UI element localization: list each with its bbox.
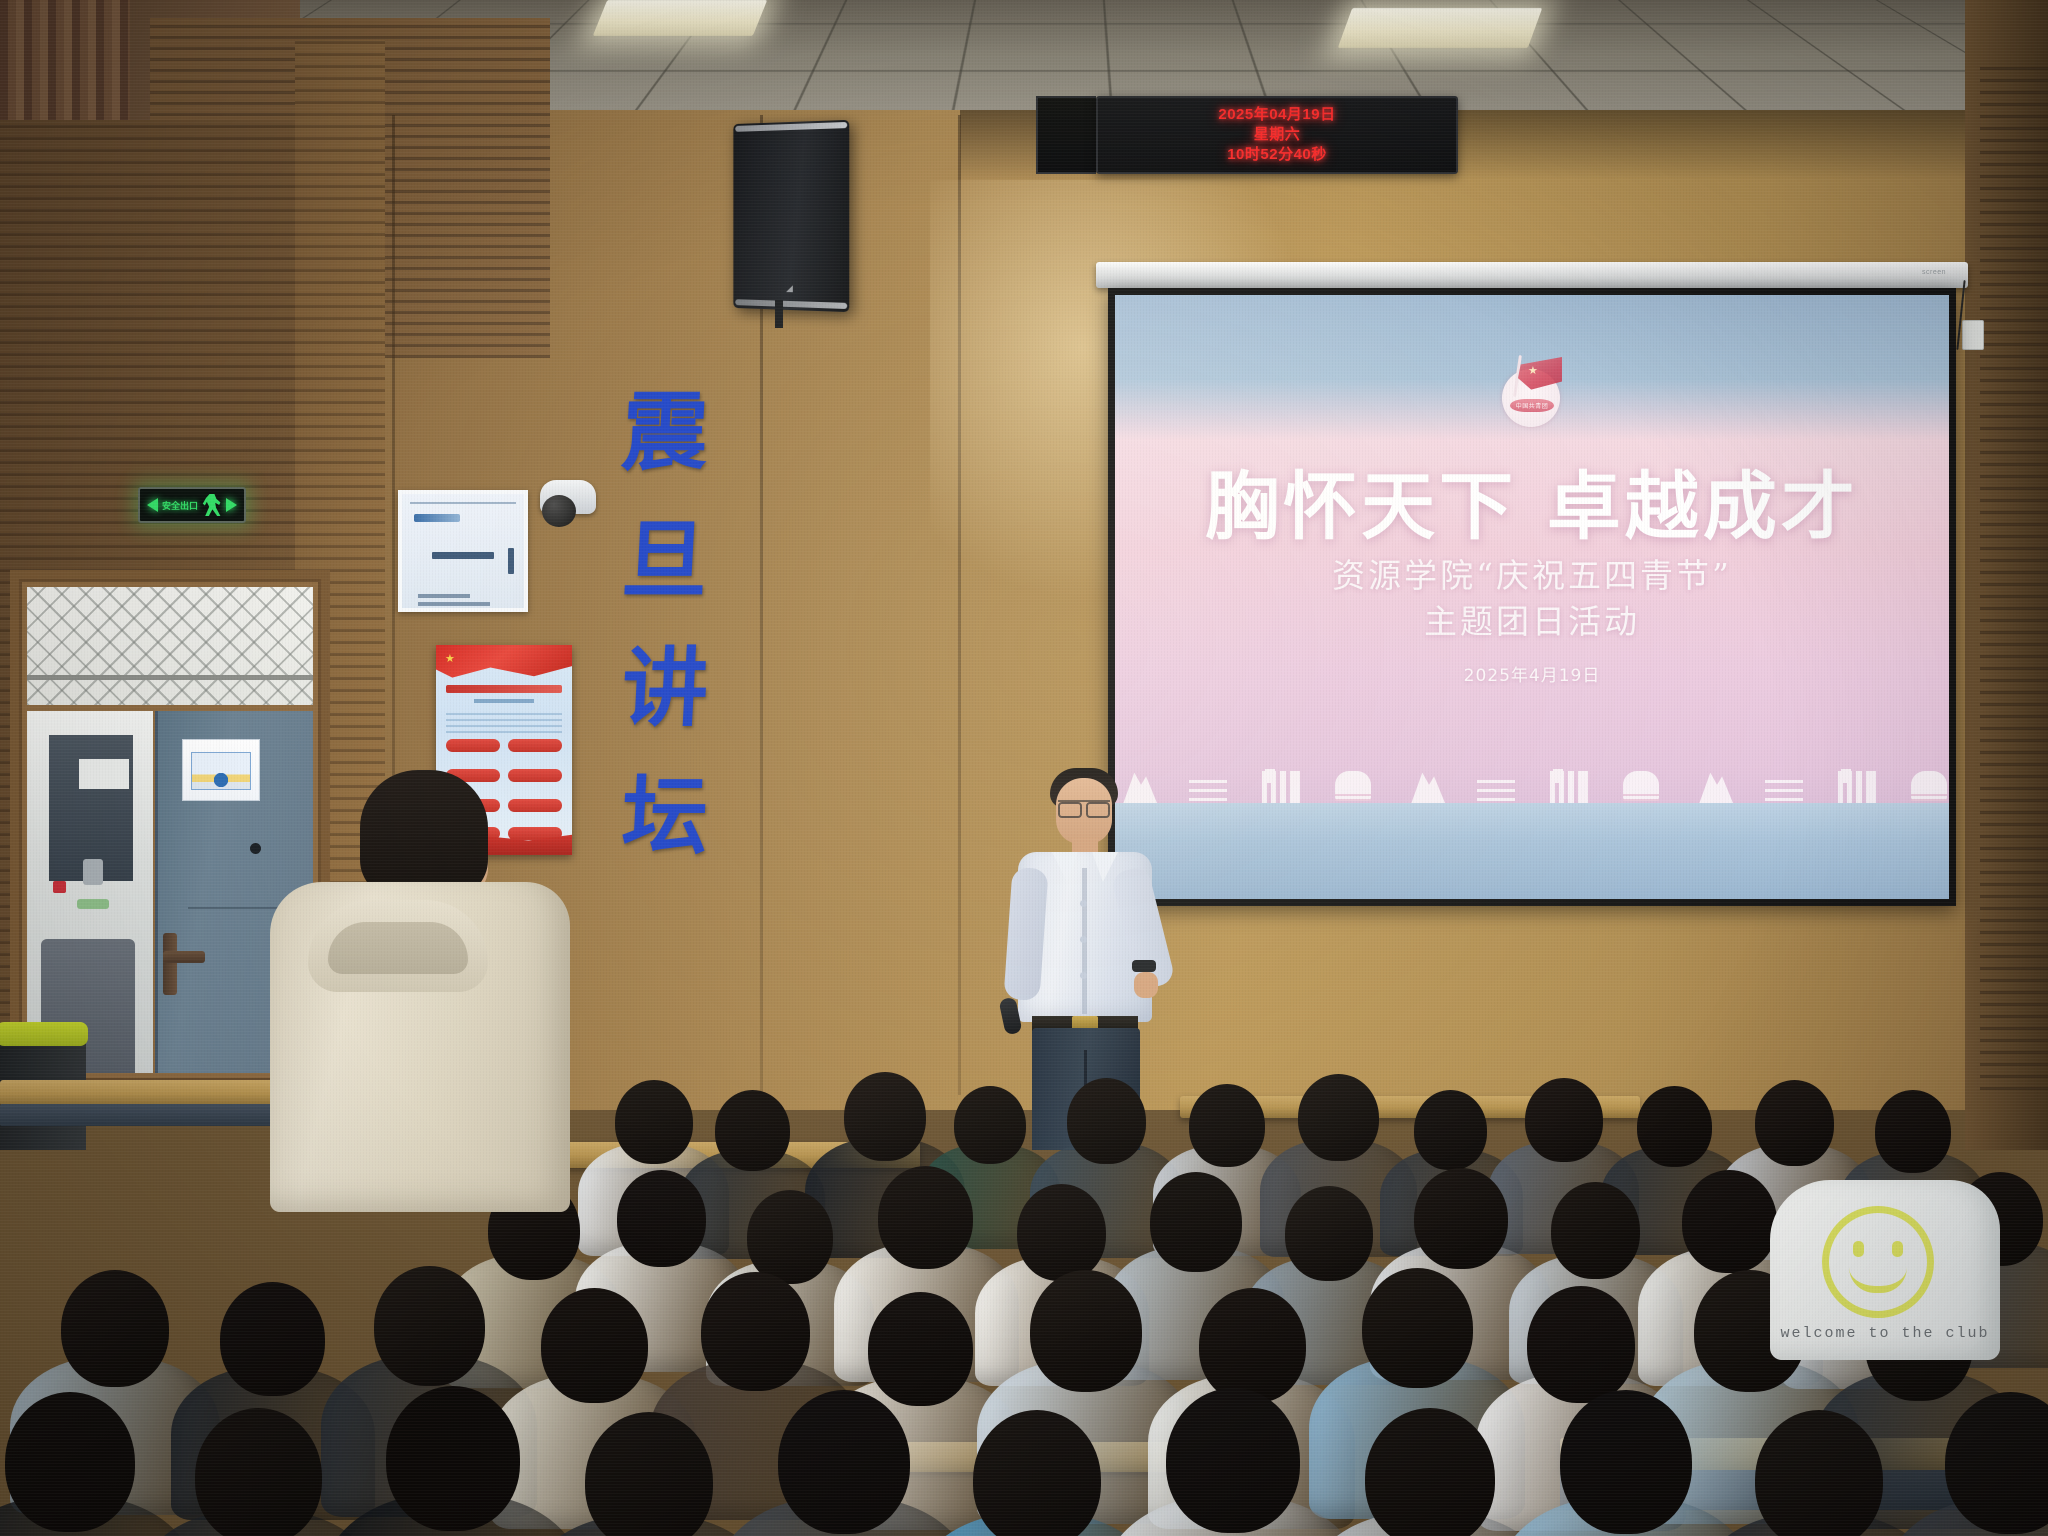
shirt-button	[1080, 900, 1087, 907]
led-clock-display: 2025年04月19日 星期六 10时52分40秒	[1096, 96, 1458, 174]
audience-member-head	[386, 1386, 520, 1531]
speaker-brand-mark: ◢	[786, 283, 794, 294]
poster-paragraph	[446, 709, 562, 733]
audience-member	[1920, 1392, 2048, 1536]
led-time: 10时52分40秒	[1227, 145, 1327, 165]
hoodie-text: welcome to the club	[1770, 1325, 2000, 1342]
audience-member	[560, 1412, 738, 1536]
lecture-hall-photo: 安全出口 ★ ◢ 2	[0, 0, 2048, 1536]
running-person-icon	[202, 494, 222, 516]
corridor-view	[27, 711, 153, 1073]
audience-member-head	[878, 1166, 973, 1269]
student-hair	[360, 770, 488, 898]
speaker-bottom-trim	[735, 299, 847, 309]
poster-item-pill	[446, 739, 500, 752]
slide-subtitle-2: 主题团日活动	[1115, 595, 1949, 643]
audience-member-head	[1755, 1080, 1834, 1166]
audience-member-head	[1414, 1168, 1508, 1269]
hoodie-back: welcome to the club	[1770, 1180, 2000, 1360]
audience-member-head	[195, 1408, 322, 1536]
wall-seam	[958, 115, 961, 1095]
wall-calligraphy: 震 旦 讲 坛	[600, 390, 730, 860]
audience-member	[752, 1390, 936, 1536]
glasses-icon	[1058, 800, 1110, 812]
notice-logo-icon	[414, 514, 460, 522]
audience-member-head	[1755, 1410, 1883, 1536]
audience-member-head	[1017, 1184, 1106, 1281]
projector-screen-housing[interactable]: screen	[1096, 262, 1968, 288]
cabinet-indicator-icon	[53, 881, 66, 893]
wristwatch-icon	[1132, 960, 1156, 972]
audience-member-head	[61, 1270, 169, 1387]
calligraphy-char-2: 旦	[620, 518, 711, 604]
safety-diagram-icon	[191, 752, 251, 790]
transom-window	[27, 587, 313, 705]
audience-member-head	[1150, 1172, 1242, 1272]
housing-brand-mark: screen	[1922, 269, 1946, 276]
lattice-grille-icon	[27, 587, 313, 705]
slide-title: 胸怀天下 卓越成才	[1115, 447, 1949, 554]
chinese-flag-icon: ★	[436, 645, 572, 679]
wall-speaker: ◢	[733, 120, 849, 312]
ceiling-light-panel	[1338, 8, 1543, 48]
audience-member	[360, 1386, 546, 1536]
youth-league-emblem-icon: ★ 中国共青团	[1496, 355, 1568, 427]
led-clock-side-panel	[1036, 96, 1096, 174]
led-weekday: 星期六	[1254, 125, 1301, 145]
slide-subtitle-1: 资源学院“庆祝五四青节”	[1115, 549, 1949, 597]
audience-member-head	[1560, 1390, 1692, 1534]
audience-member-head	[220, 1282, 325, 1396]
city-icon	[1547, 765, 1589, 803]
audience-member-head	[701, 1272, 810, 1391]
exit-arrow-left-icon	[147, 498, 158, 512]
audience-member-head	[1525, 1078, 1603, 1162]
slide-decoration-band	[1115, 757, 1949, 803]
emblem-banner: 中国共青团	[1510, 399, 1554, 412]
wall-notice-frame	[398, 490, 528, 612]
wave-icon	[1475, 765, 1517, 803]
audience-member-head	[1682, 1170, 1777, 1273]
notice-footer-line	[418, 602, 490, 606]
jacket-hood-lining	[328, 922, 468, 974]
city-icon	[1259, 765, 1301, 803]
audience-member-head	[1637, 1086, 1712, 1167]
wall-socket	[1962, 320, 1984, 350]
audience-member-head	[1365, 1408, 1495, 1536]
notice-side-bar	[508, 548, 514, 574]
audience-member-head	[1189, 1084, 1265, 1167]
mountain-icon	[1691, 765, 1733, 803]
projection-screen: ★ 中国共青团 胸怀天下 卓越成才 资源学院“庆祝五四青节” 主题团日活动 20…	[1108, 288, 1956, 906]
slide-footer-band	[1115, 803, 1949, 899]
presenter-right-hand	[1134, 972, 1158, 998]
notice-title-bar	[432, 552, 494, 559]
audience-member-head	[1414, 1090, 1487, 1170]
door-lever[interactable]	[163, 951, 205, 963]
audience-member	[0, 1392, 160, 1536]
wave-icon	[1763, 765, 1805, 803]
calligraphy-char-3: 讲	[620, 646, 711, 732]
door-handle[interactable]	[163, 933, 177, 995]
mountain-icon	[1403, 765, 1445, 803]
cabinet-green-strip	[77, 899, 109, 909]
audience-member-head	[615, 1080, 693, 1164]
audience-member-head	[1030, 1270, 1142, 1392]
audience-member-head	[973, 1410, 1101, 1536]
audience-member-head	[541, 1288, 648, 1403]
emergency-exit-sign: 安全出口	[138, 487, 246, 523]
audience-member-head	[715, 1090, 790, 1171]
right-wall-slats	[1980, 60, 2048, 1090]
speaker-mount-bracket	[775, 300, 783, 328]
audience-member-head	[954, 1086, 1026, 1164]
ceiling-light-panel	[593, 0, 768, 36]
camera-lens-icon	[542, 495, 576, 527]
presentation-slide: ★ 中国共青团 胸怀天下 卓越成才 资源学院“庆祝五四青节” 主题团日活动 20…	[1115, 295, 1949, 899]
calligraphy-char-4: 坛	[620, 774, 711, 860]
audience-member	[1730, 1410, 1908, 1536]
audience-member-head	[374, 1266, 485, 1386]
calligraphy-char-1: 震	[620, 390, 711, 476]
city-icon	[1835, 765, 1877, 803]
cabinet-button	[83, 859, 103, 885]
audience-member-head	[1362, 1268, 1473, 1388]
led-date: 2025年04月19日	[1218, 105, 1335, 125]
cloud-icon	[1907, 765, 1949, 803]
poster-title-bar	[446, 685, 562, 693]
audience-member-head	[778, 1390, 910, 1534]
audience-member-head	[1285, 1186, 1373, 1281]
slide-date: 2025年4月19日	[1115, 661, 1949, 686]
audience-member-head	[1551, 1182, 1640, 1279]
audience-member-head	[5, 1392, 135, 1532]
audience-member-head	[1166, 1388, 1300, 1533]
shirt-button	[1080, 936, 1087, 943]
notice-footer-line	[418, 594, 470, 598]
audience-member	[948, 1410, 1126, 1536]
audience-member	[1534, 1390, 1718, 1536]
audience-member-head	[747, 1190, 833, 1284]
wave-icon	[1187, 765, 1229, 803]
poster-item-pill	[508, 739, 562, 752]
door-safety-notice	[182, 739, 260, 801]
audience-member-head	[1298, 1074, 1379, 1161]
audience-member	[170, 1408, 346, 1536]
cloud-icon	[1331, 765, 1373, 803]
smiley-face-icon	[1822, 1206, 1934, 1318]
shirt-button	[1080, 972, 1087, 979]
audience-member-head	[1527, 1286, 1635, 1403]
cloud-icon	[1619, 765, 1661, 803]
flag-star-icon: ★	[445, 652, 455, 665]
audience-member-head	[844, 1072, 926, 1161]
audience-member-head	[585, 1412, 713, 1536]
audience-member-head	[1067, 1078, 1146, 1164]
exit-arrow-right-icon	[226, 498, 237, 512]
cabinet-label	[79, 759, 129, 789]
emblem-star-icon: ★	[1528, 364, 1538, 377]
audience-member-head	[1199, 1288, 1306, 1403]
speaker-top-trim	[735, 122, 847, 132]
audience-member-head	[1945, 1392, 2048, 1534]
audience-member	[1340, 1408, 1520, 1536]
notice-rule	[410, 502, 516, 504]
poster-subtitle-bar	[474, 699, 534, 703]
audience-member-head	[617, 1170, 706, 1267]
standing-student	[256, 770, 586, 1250]
audience-member	[1140, 1388, 1326, 1536]
audience-member-head	[1875, 1090, 1951, 1173]
audience-member-head	[868, 1292, 973, 1406]
exit-sign-label: 安全出口	[162, 499, 198, 512]
transom-bar	[27, 675, 313, 680]
